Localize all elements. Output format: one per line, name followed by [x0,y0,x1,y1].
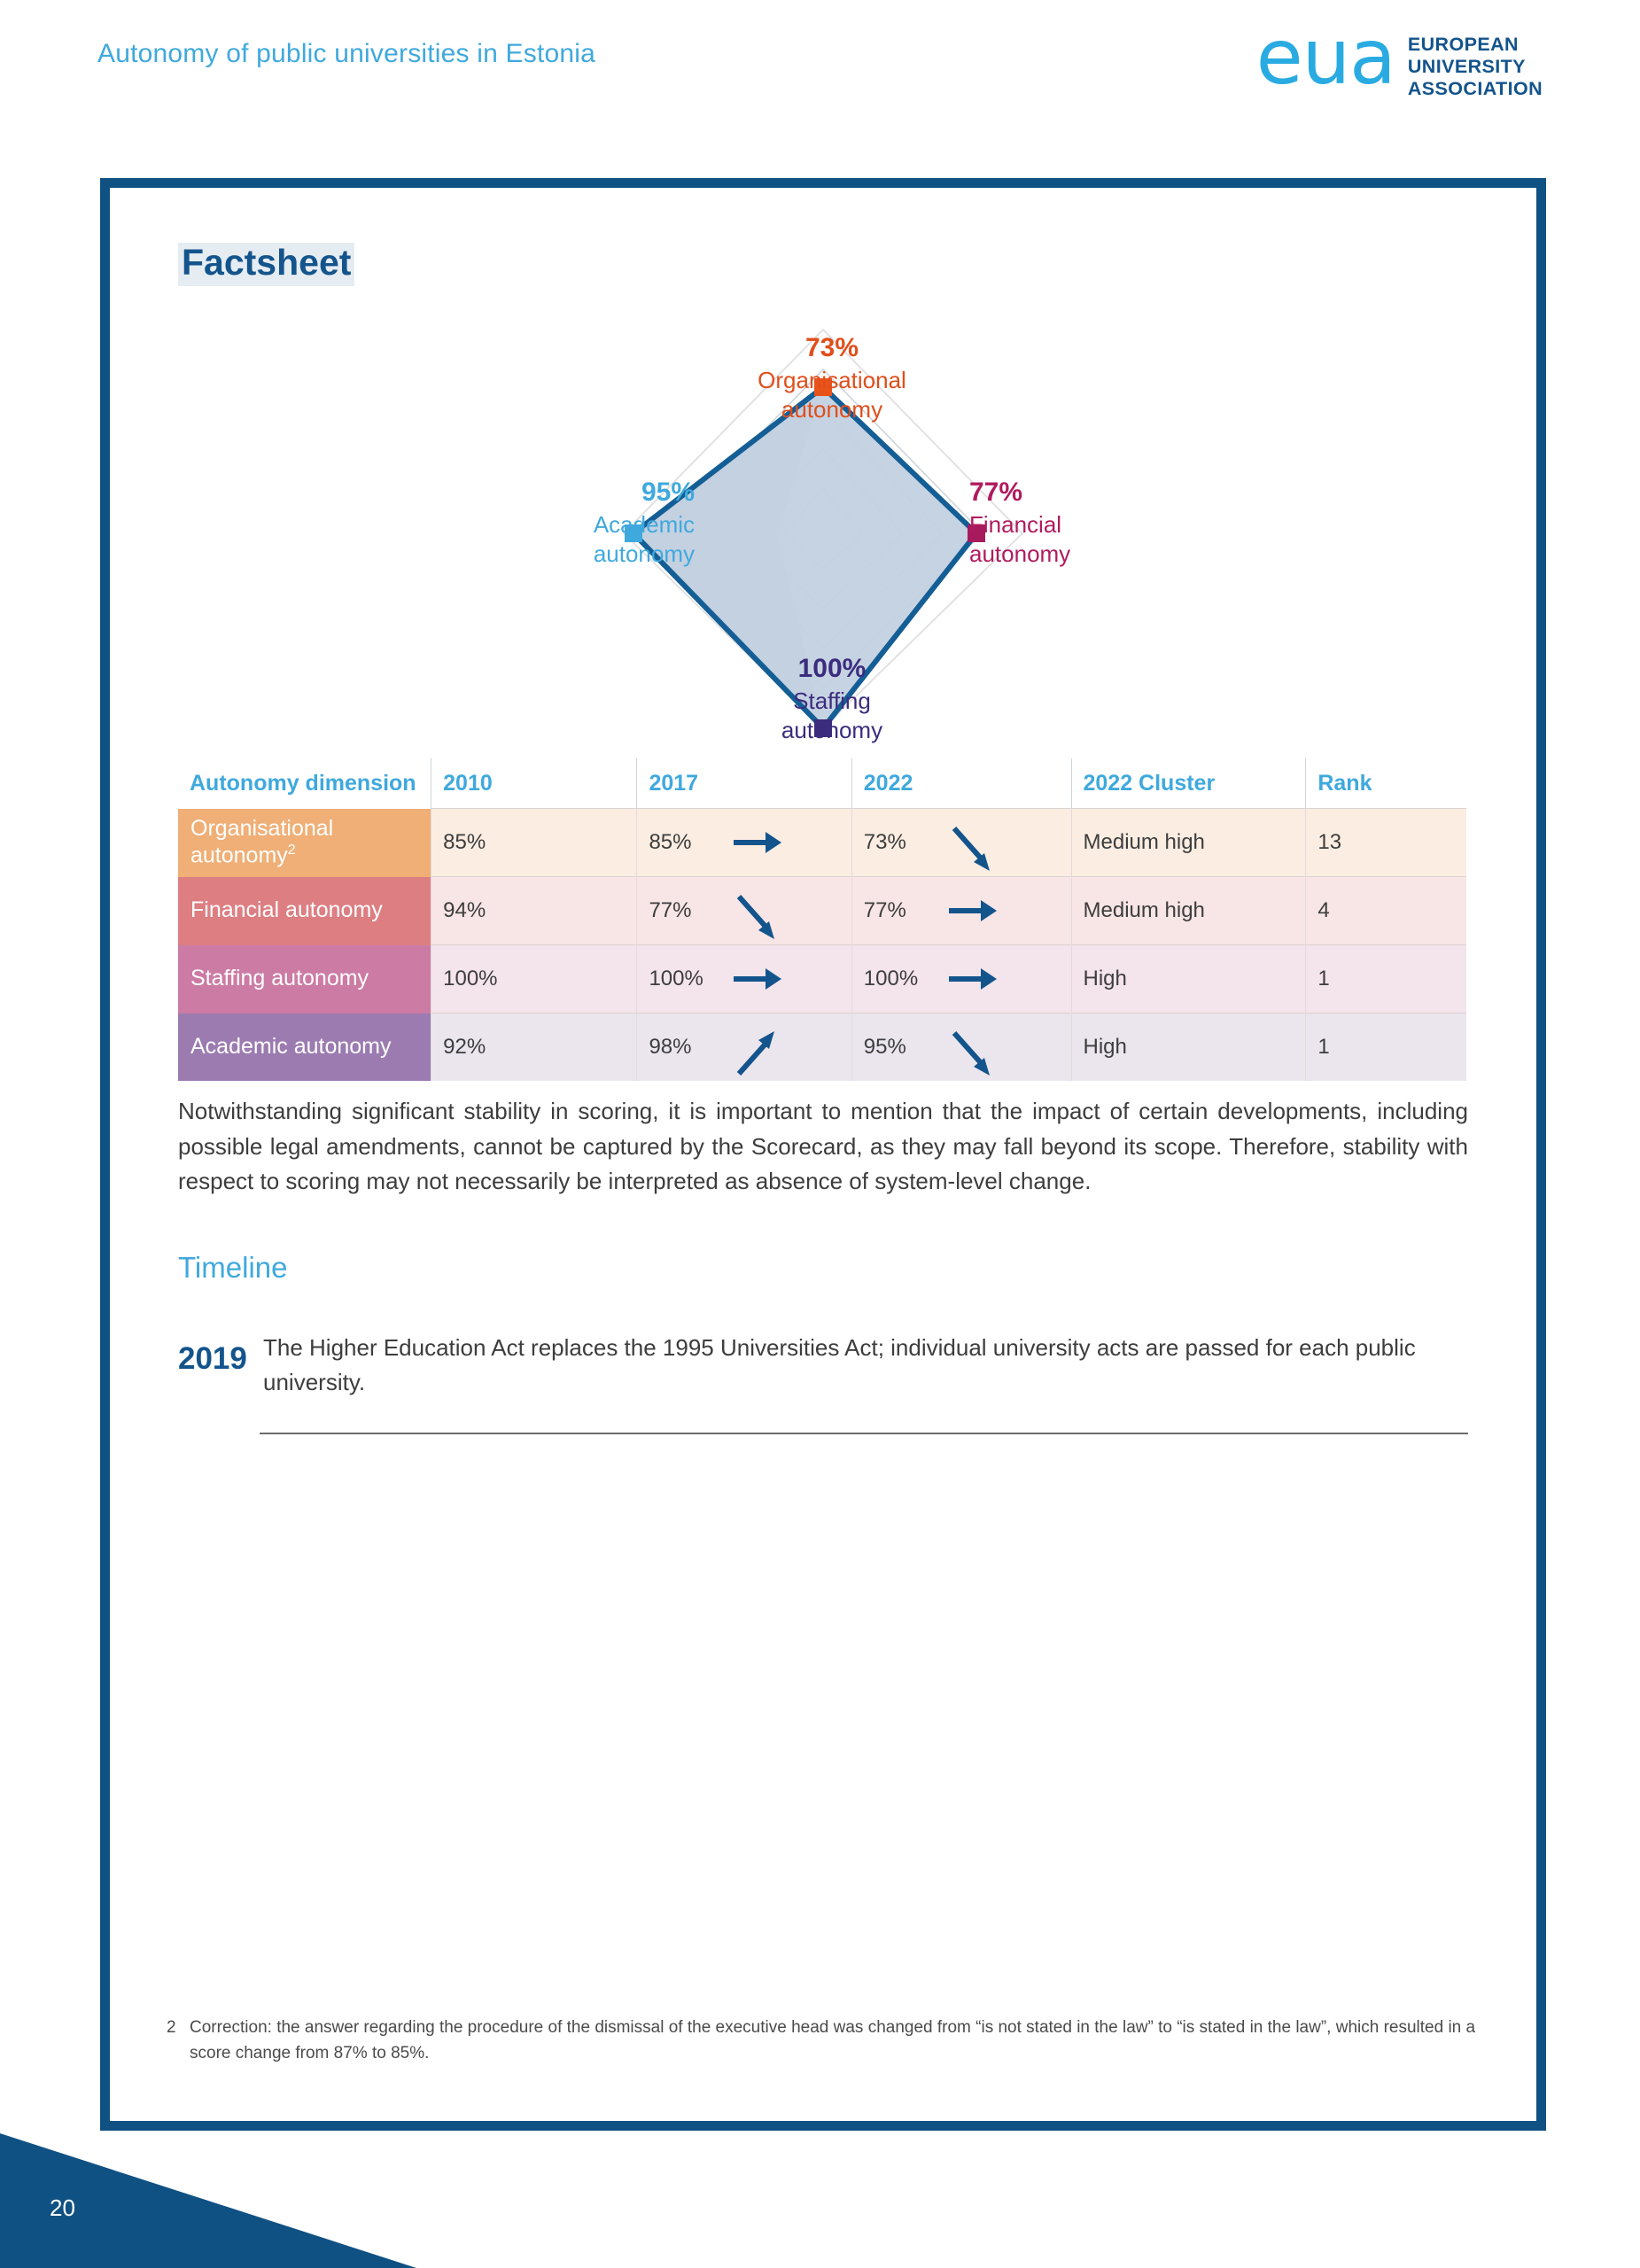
up-right-arrow-icon [730,1028,785,1067]
eua-logo-line-2: UNIVERSITY [1408,56,1543,78]
value-2010: 100% [443,967,525,991]
radar-label-financial: 77% Financial autonomy [969,476,1217,568]
value-2022: 100% [864,967,945,991]
value-2022: 77% [864,898,945,923]
value-2010: 94% [443,898,525,923]
right-arrow-icon [945,891,1000,930]
table-row: Organisational autonomy2 85% 85% [178,809,1466,877]
table-row: Staffing autonomy 100% 100% [178,945,1466,1014]
footnote-text: Correction: the answer regarding the pro… [167,2016,1487,2066]
down-right-arrow-icon [945,823,1000,862]
cell-2010: 94% [431,877,637,945]
radar-name-financial-line1: Financial [969,511,1061,538]
page-number: 20 [50,2194,75,2222]
radar-value-financial: 77% [969,476,1217,509]
row-label-organisational: Organisational autonomy2 [178,809,431,877]
value-2017: 100% [649,967,730,991]
timeline-entry: 2019 The Higher Education Act replaces t… [178,1331,1468,1400]
timeline-year: 2019 [178,1341,260,1377]
table-header: Autonomy dimension 2010 2017 2022 2022 C… [178,758,1466,809]
cell-rank: 1 [1306,1014,1466,1082]
table-row: Financial autonomy 94% 77% [178,877,1466,945]
cell-2017: 77% [637,877,851,945]
radar-name-organisational-line2: autonomy [781,396,882,423]
row-label-staffing: Staffing autonomy [178,945,431,1014]
column-header-2022-cluster: 2022 Cluster [1071,758,1306,809]
footnote: 2 Correction: the answer regarding the p… [167,2016,1487,2066]
page-corner-decoration [0,2117,416,2268]
cell-2010: 92% [431,1014,637,1082]
value-2017: 85% [649,830,730,855]
cell-rank: 13 [1306,809,1466,877]
radar-label-organisational: 73% Organisational autonomy [695,331,969,423]
cell-2022: 95% [851,1014,1071,1082]
cell-cluster: Medium high [1071,809,1306,877]
autonomy-dimension-table: Autonomy dimension 2010 2017 2022 2022 C… [178,758,1466,1081]
autonomy-radar-chart: 73% Organisational autonomy 77% Financia… [110,321,1536,737]
running-header-title: Autonomy of public universities in Eston… [97,39,595,69]
column-header-rank: Rank [1306,758,1466,809]
cell-2022: 73% [851,809,1071,877]
radar-name-financial-line2: autonomy [969,540,1070,567]
cell-2010: 85% [431,809,637,877]
radar-label-academic: 95% Academic autonomy [447,476,695,568]
down-right-arrow-icon [730,891,785,930]
column-header-2022: 2022 [851,758,1071,809]
eua-logo-line-1: EUROPEAN [1408,34,1543,56]
timeline-description: The Higher Education Act replaces the 19… [260,1331,1468,1400]
right-arrow-icon [945,959,1000,998]
page-header: Autonomy of public universities in Eston… [0,0,1640,151]
radar-label-staffing: 100% Staffing autonomy [695,652,969,744]
value-2017: 98% [649,1035,730,1060]
row-label-financial-text: Financial autonomy [190,897,383,922]
radar-value-organisational: 73% [695,331,969,365]
eua-logo-text: EUROPEAN UNIVERSITY ASSOCIATION [1408,34,1543,100]
cell-cluster: High [1071,1014,1306,1082]
row-label-staffing-text: Staffing autonomy [190,966,369,990]
radar-name-organisational-line1: Organisational [758,367,906,393]
stability-note-paragraph: Notwithstanding significant stability in… [178,1094,1468,1200]
row-label-organisational-text: Organisational autonomy [190,816,333,867]
value-2022: 95% [864,1035,945,1060]
radar-value-academic: 95% [447,476,695,509]
radar-value-staffing: 100% [695,652,969,686]
eua-logo-line-3: ASSOCIATION [1408,78,1543,100]
table-header-row: Autonomy dimension 2010 2017 2022 2022 C… [178,758,1466,809]
table-row: Academic autonomy 92% 98% [178,1014,1466,1082]
cell-rank: 1 [1306,945,1466,1014]
table-body: Organisational autonomy2 85% 85% [178,809,1466,1082]
radar-name-staffing-line2: autonomy [781,717,882,743]
row-label-financial: Financial autonomy [178,877,431,945]
value-2010: 92% [443,1035,525,1060]
cell-2017: 100% [637,945,851,1014]
column-header-dimension: Autonomy dimension [178,758,431,809]
eua-wordmark: eua [1256,27,1395,89]
eua-logo: eua EUROPEAN UNIVERSITY ASSOCIATION [1256,27,1543,100]
right-arrow-icon [730,823,785,862]
row-label-academic-text: Academic autonomy [190,1034,392,1059]
down-right-arrow-icon [945,1028,1000,1067]
value-2022: 73% [864,830,945,855]
cell-2017: 85% [637,809,851,877]
radar-name-academic-line1: Academic [594,511,695,538]
value-2017: 77% [649,898,730,923]
cell-cluster: Medium high [1071,877,1306,945]
timeline-heading: Timeline [178,1251,287,1285]
column-header-2010: 2010 [431,758,637,809]
right-arrow-icon [730,959,785,998]
radar-name-staffing-line1: Staffing [793,687,871,714]
factsheet-heading: Factsheet [178,243,354,286]
row-label-footnote-marker: 2 [288,843,296,858]
cell-rank: 4 [1306,877,1466,945]
cell-2017: 98% [637,1014,851,1082]
radar-name-academic-line2: autonomy [594,540,695,567]
content-frame: Factsheet 73% [100,178,1546,2131]
timeline-divider [260,1433,1468,1434]
value-2010: 85% [443,830,525,855]
footnote-number: 2 [167,2016,176,2041]
cell-2010: 100% [431,945,637,1014]
cell-cluster: High [1071,945,1306,1014]
cell-2022: 77% [851,877,1071,945]
cell-2022: 100% [851,945,1071,1014]
column-header-2017: 2017 [637,758,851,809]
row-label-academic: Academic autonomy [178,1014,431,1082]
